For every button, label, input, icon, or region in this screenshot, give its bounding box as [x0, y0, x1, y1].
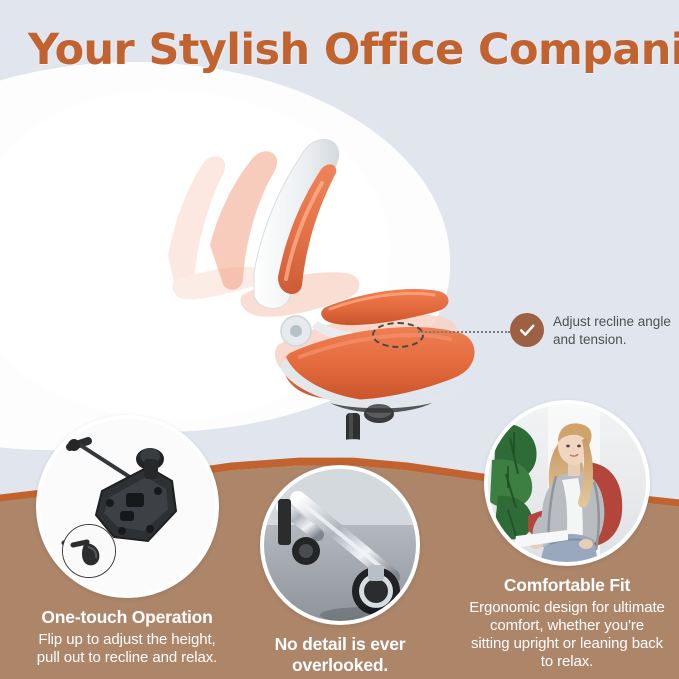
cylinder-post — [278, 499, 291, 545]
hero-chair-illustration — [150, 95, 510, 440]
feature-card-one-touch-operation: One-touch Operation Flip up to adjust th… — [8, 415, 246, 667]
feature-title-line-1: No detail is ever — [224, 634, 456, 655]
feature-body: Ergonomic design for ultimate comfort, w… — [455, 599, 679, 671]
right-eye — [577, 445, 581, 448]
feature-body-line-2: comfort, whether you're — [455, 617, 679, 635]
chair-mechanism-photo — [36, 415, 219, 598]
callout-line-2: and tension. — [553, 331, 678, 349]
feature-card-comfortable-fit: Comfortable Fit Ergonomic design for ult… — [455, 400, 679, 671]
callout-line-1: Adjust recline angle — [553, 313, 678, 331]
woman-sitting-photo — [484, 400, 650, 566]
page-title: Your Stylish Office Companion — [28, 28, 668, 73]
left-eye — [566, 445, 570, 448]
callout-text: Adjust recline angle and tension. — [553, 313, 678, 349]
feature-body-line-3: sitting upright or leaning back — [455, 635, 679, 653]
tension-knob-highlight-ring — [372, 322, 424, 348]
caster-rear — [292, 537, 320, 565]
feature-body-line-1: Ergonomic design for ultimate — [455, 599, 679, 617]
caster-base-photo — [260, 465, 420, 625]
feature-title: Comfortable Fit — [455, 575, 679, 596]
feature-body-line-1: Flip up to adjust the height, — [8, 631, 246, 649]
lever-closeup-inset — [62, 524, 116, 578]
feature-title: No detail is ever overlooked. — [224, 634, 456, 675]
callout-connector-line — [418, 331, 510, 333]
feature-title-line-2: overlooked. — [224, 655, 456, 676]
check-circle-icon — [510, 313, 544, 347]
feature-title: One-touch Operation — [8, 607, 246, 628]
feature-body-line-4: to relax. — [455, 653, 679, 671]
feature-body-line-2: pull out to recline and relax. — [8, 649, 246, 667]
chair-pivot-center — [290, 325, 302, 337]
chair-cylinder-highlight — [349, 413, 353, 440]
feature-body: Flip up to adjust the height, pull out t… — [8, 631, 246, 667]
right-hand — [579, 539, 593, 549]
feature-card-no-detail-overlooked: No detail is ever overlooked. Five-star … — [224, 465, 456, 679]
chair-five-star-base — [258, 439, 450, 440]
infographic-canvas: Your Stylish Office Companion — [0, 0, 679, 679]
